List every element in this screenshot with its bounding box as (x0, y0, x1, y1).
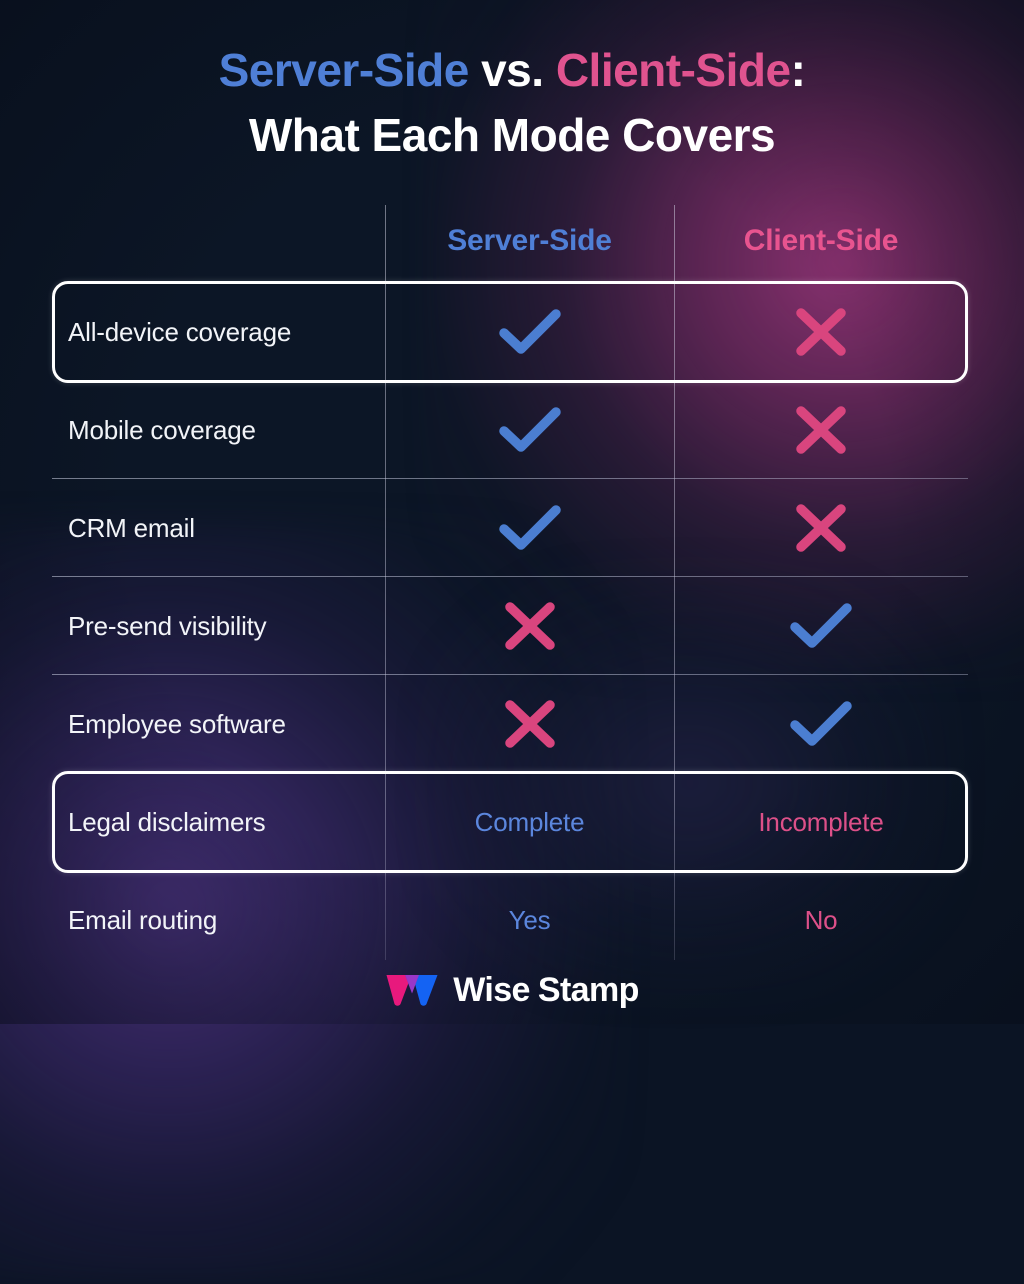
cross-icon (792, 306, 850, 358)
cross-icon (792, 502, 850, 554)
cell-client-text: No (674, 871, 968, 969)
infographic-page: Server-Side vs. Client-Side: What Each M… (0, 0, 1024, 1024)
table-row: Legal disclaimersCompleteIncomplete (0, 773, 1024, 871)
title-line-2: What Each Mode Covers (0, 111, 1024, 160)
column-header-client-side: Client-Side (674, 224, 968, 258)
cell-server-cross (385, 577, 674, 675)
wisestamp-w-logo-icon (385, 972, 439, 1008)
table-header-row: Server-Side Client-Side (0, 205, 1024, 277)
row-label: All-device coverage (68, 317, 291, 348)
check-icon (789, 699, 853, 749)
brand-word-wise: Wise (453, 973, 530, 1007)
table-row: All-device coverage (0, 283, 1024, 381)
cell-client-cross (674, 479, 968, 577)
title-client-side: Client-Side (556, 44, 791, 96)
title-vs: vs. (481, 44, 543, 96)
row-label: Email routing (68, 905, 217, 936)
cell-client-check (674, 675, 968, 773)
table-row: Employee software (0, 675, 1024, 773)
title-line-1: Server-Side vs. Client-Side: (0, 46, 1024, 95)
cell-server-check (385, 381, 674, 479)
check-icon (498, 503, 562, 553)
title-server-side: Server-Side (219, 44, 469, 96)
cell-value: Yes (509, 905, 551, 936)
cell-value: No (805, 905, 838, 936)
check-icon (498, 307, 562, 357)
cell-server-check (385, 479, 674, 577)
row-label: Pre-send visibility (68, 611, 267, 642)
check-icon (498, 405, 562, 455)
wisestamp-logo: WiseStamp (0, 972, 1024, 1008)
table-row: Pre-send visibility (0, 577, 1024, 675)
cell-client-cross (674, 381, 968, 479)
cross-icon (501, 698, 559, 750)
cell-value: Complete (475, 807, 585, 838)
row-label: CRM email (68, 513, 195, 544)
table-body: All-device coverageMobile coverageCRM em… (0, 283, 1024, 969)
row-label: Mobile coverage (68, 415, 256, 446)
cell-client-text: Incomplete (674, 773, 968, 871)
cell-client-check (674, 577, 968, 675)
check-icon (789, 601, 853, 651)
column-header-server-side: Server-Side (385, 224, 674, 258)
cross-icon (501, 600, 559, 652)
row-label: Legal disclaimers (68, 807, 265, 838)
cell-server-text: Yes (385, 871, 674, 969)
cell-server-check (385, 283, 674, 381)
cell-server-cross (385, 675, 674, 773)
wisestamp-wordmark: WiseStamp (453, 973, 639, 1007)
title-colon: : (791, 44, 806, 96)
cell-client-cross (674, 283, 968, 381)
row-label: Employee software (68, 709, 286, 740)
cell-server-text: Complete (385, 773, 674, 871)
brand-word-stamp: Stamp (538, 973, 639, 1007)
cell-value: Incomplete (758, 807, 883, 838)
page-title: Server-Side vs. Client-Side: What Each M… (0, 46, 1024, 160)
cross-icon (792, 404, 850, 456)
table-row: Email routingYesNo (0, 871, 1024, 969)
table-row: CRM email (0, 479, 1024, 577)
table-row: Mobile coverage (0, 381, 1024, 479)
